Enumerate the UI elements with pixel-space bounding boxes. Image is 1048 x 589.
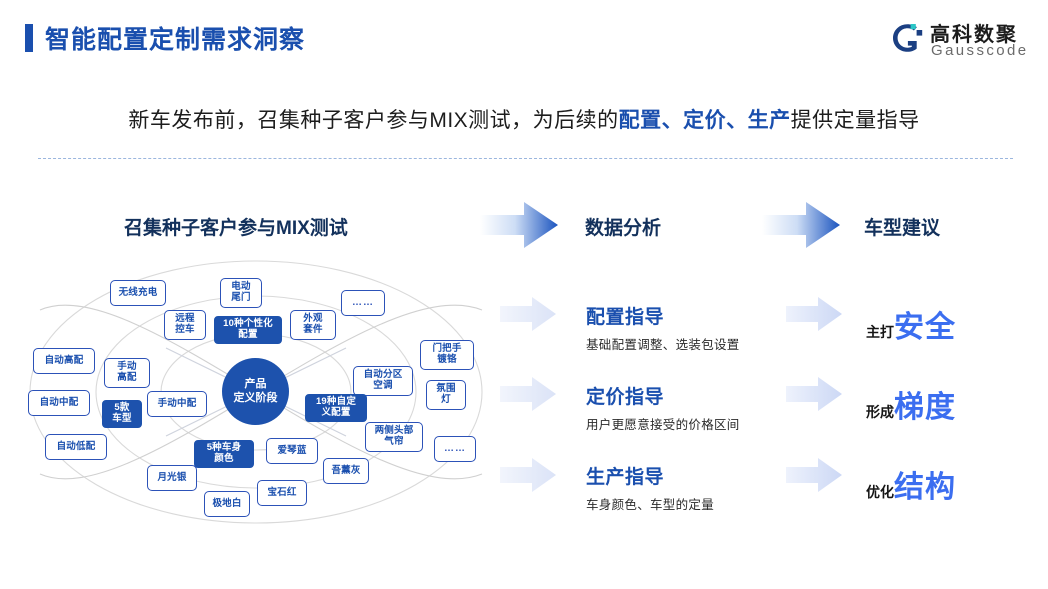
- page-header: 智能配置定制需求洞察 高科数聚 Gausscode: [0, 0, 1048, 76]
- subtitle-text: 新车发布前，召集种子客户参与MIX测试，为后续的配置、定价、生产提供定量指导: [128, 104, 919, 134]
- recommendation-item-2: 优化结构: [866, 462, 956, 506]
- flow-arrow-main-2: [762, 202, 840, 248]
- diagram-node-label: 5种车身颜色: [207, 443, 242, 465]
- diagram-node: 无线充电: [110, 280, 166, 306]
- recommendation-item-2-word: 结构: [894, 471, 956, 504]
- diagram-node-label: 19种自定义配置: [316, 397, 356, 419]
- diagram-node-label: 5款车型: [112, 403, 131, 425]
- analysis-item-1-desc: 用户更愿意接受的价格区间: [586, 414, 846, 433]
- diagram-node-label: 爱琴蓝: [277, 446, 306, 457]
- diagram-node: 自动分区空调: [353, 366, 413, 396]
- subtitle-part2: 提供定量指导: [791, 109, 920, 132]
- analysis-item-1: 定价指导 用户更愿意接受的价格区间: [586, 382, 846, 433]
- diagram-node: 5款车型: [102, 400, 142, 428]
- analysis-item-2-desc: 车身颜色、车型的定量: [586, 494, 846, 513]
- diagram-node: 极地白: [204, 491, 250, 517]
- diagram-node-label: ……: [352, 297, 374, 309]
- diagram-node-label: 氛围灯: [436, 384, 455, 406]
- analysis-item-2: 生产指导 车身颜色、车型的定量: [586, 462, 846, 513]
- recommendation-item-2-prefix: 优化: [866, 484, 894, 500]
- analysis-item-1-title: 定价指导: [586, 382, 846, 409]
- diagram-node-label: 手动中配: [158, 399, 197, 410]
- diagram-node-label: 远程控车: [175, 314, 194, 336]
- recommendation-item-0-prefix: 主打: [866, 324, 894, 340]
- diagram-core-label: 产品定义阶段: [234, 378, 278, 406]
- diagram-node-label: 两侧头部气帘: [375, 426, 414, 448]
- recommendation-item-0: 主打安全: [866, 302, 956, 346]
- diagram-node: 远程控车: [164, 310, 206, 340]
- analysis-item-0-desc: 基础配置调整、选装包设置: [586, 334, 846, 353]
- diagram-node: ……: [341, 290, 385, 316]
- diagram-node-label: 吾薰灰: [331, 466, 360, 477]
- diagram-node: 吾薰灰: [323, 458, 369, 484]
- diagram-node-label: 无线充电: [119, 288, 158, 299]
- recommendation-item-1: 形成梯度: [866, 382, 956, 426]
- subtitle-part1: 新车发布前，召集种子客户参与MIX测试，为后续的: [128, 109, 618, 132]
- diagram-node-label: 自动高配: [45, 356, 84, 367]
- analysis-item-0-title: 配置指导: [586, 302, 846, 329]
- diagram-node: 自动中配: [28, 390, 90, 416]
- diagram-node-label: 手动高配: [117, 362, 136, 384]
- diagram-node: 电动尾门: [220, 278, 262, 308]
- diagram-node-label: 门把手镀铬: [432, 344, 461, 366]
- diagram-node-label: 10种个性化配置: [223, 319, 273, 341]
- diagram-node: 5种车身颜色: [194, 440, 254, 468]
- diagram-node: 宝石红: [257, 480, 307, 506]
- analysis-item-0: 配置指导 基础配置调整、选装包设置: [586, 302, 846, 353]
- diagram-node-label: 自动分区空调: [364, 370, 403, 392]
- diagram-node-label: 极地白: [212, 499, 241, 510]
- section-divider: [38, 158, 1013, 159]
- flow-arrow-main-1: [480, 202, 558, 248]
- diagram-node-label: 电动尾门: [231, 282, 250, 304]
- subtitle-row: 新车发布前，召集种子客户参与MIX测试，为后续的配置、定价、生产提供定量指导: [0, 104, 1048, 134]
- mix-test-network-diagram: 产品定义阶段 无线充电电动尾门……远程控车10种个性化配置外观套件门把手镀铬自动…: [16, 258, 506, 536]
- recommendation-item-0-word: 安全: [894, 311, 956, 344]
- diagram-node: 手动高配: [104, 358, 150, 388]
- page-title: 智能配置定制需求洞察: [45, 20, 305, 56]
- diagram-node: ……: [434, 436, 476, 462]
- title-accent-bar: [25, 24, 33, 52]
- diagram-node: 两侧头部气帘: [365, 422, 423, 452]
- flow-arrow-row2-left: [500, 377, 556, 411]
- subtitle-highlight: 配置、定价、生产: [619, 109, 791, 132]
- diagram-node: 外观套件: [290, 310, 336, 340]
- diagram-node: 门把手镀铬: [420, 340, 474, 370]
- flow-arrow-row3-left: [500, 458, 556, 492]
- diagram-node: 月光银: [147, 465, 197, 491]
- diagram-node-label: 自动低配: [57, 442, 96, 453]
- logo-text-en: Gausscode: [931, 42, 1028, 59]
- flow-arrow-row1-left: [500, 297, 556, 331]
- analysis-item-2-title: 生产指导: [586, 462, 846, 489]
- column-header-right: 车型建议: [864, 213, 940, 240]
- recommendation-item-1-prefix: 形成: [866, 404, 894, 420]
- diagram-core-node: 产品定义阶段: [222, 358, 289, 425]
- recommendation-item-1-word: 梯度: [894, 391, 956, 424]
- brand-logo: 高科数聚 Gausscode: [890, 18, 1030, 64]
- column-header-left: 召集种子客户参与MIX测试: [124, 213, 348, 240]
- diagram-node-label: 外观套件: [303, 314, 322, 336]
- diagram-node: 自动低配: [45, 434, 107, 460]
- diagram-node: 19种自定义配置: [305, 394, 367, 422]
- diagram-node-label: ……: [444, 443, 466, 455]
- gausscode-g-icon: [890, 22, 924, 54]
- diagram-node-label: 宝石红: [267, 488, 296, 499]
- diagram-node: 爱琴蓝: [266, 438, 318, 464]
- diagram-node: 10种个性化配置: [214, 316, 282, 344]
- diagram-node-label: 月光银: [157, 473, 186, 484]
- diagram-node-label: 自动中配: [40, 398, 79, 409]
- column-header-middle: 数据分析: [585, 213, 661, 240]
- diagram-node: 自动高配: [33, 348, 95, 374]
- diagram-node: 手动中配: [147, 391, 207, 417]
- diagram-node: 氛围灯: [426, 380, 466, 410]
